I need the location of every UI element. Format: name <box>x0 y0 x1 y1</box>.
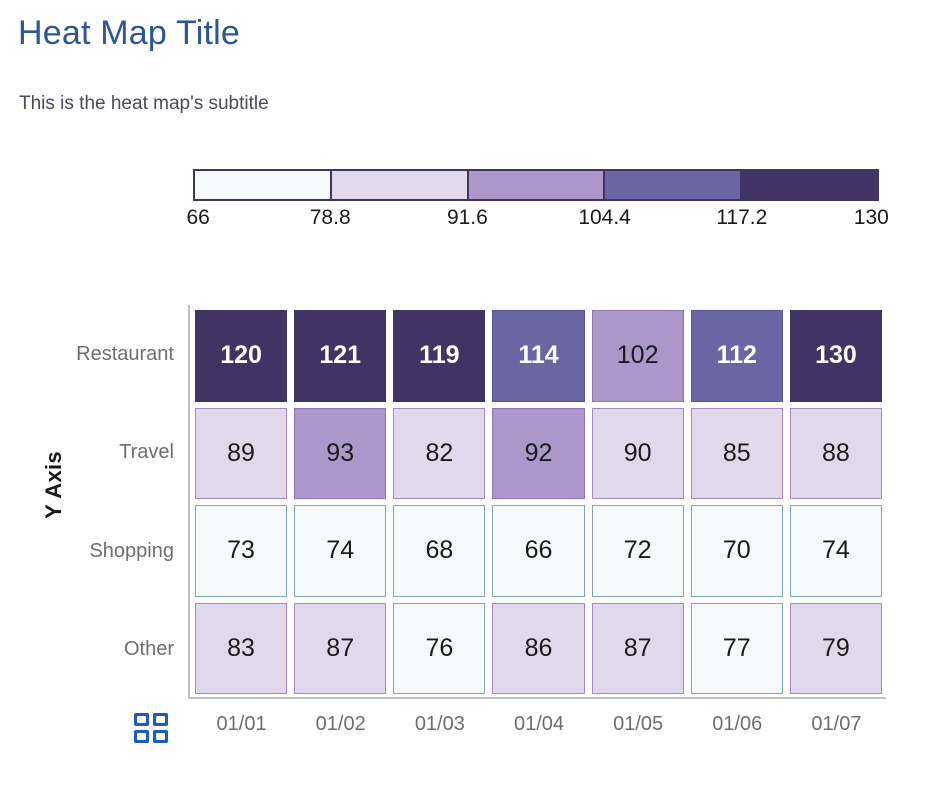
heatmap-cell[interactable]: 112 <box>691 310 783 402</box>
heatmap-grid: 1201211191141021121308993829290858873746… <box>192 307 886 697</box>
x-axis-label-01-03: 01/03 <box>390 707 489 741</box>
y-axis-label-restaurant: Restaurant <box>40 305 182 404</box>
legend-band-5 <box>740 169 879 201</box>
heatmap-cell-wrapper: 102 <box>589 307 688 405</box>
page-title: Heat Map Title <box>18 14 240 53</box>
x-axis-line <box>188 697 886 699</box>
heatmap-cell-wrapper: 73 <box>192 502 291 600</box>
heatmap-cell[interactable]: 83 <box>195 603 287 695</box>
heatmap-cell-wrapper: 90 <box>589 405 688 503</box>
heatmap-cell[interactable]: 76 <box>393 603 485 695</box>
legend-band-4 <box>603 169 742 201</box>
heatmap-cell[interactable]: 90 <box>592 408 684 500</box>
heatmap-cell[interactable]: 87 <box>294 603 386 695</box>
x-axis-label-01-06: 01/06 <box>688 707 787 741</box>
heatmap-cell-wrapper: 119 <box>390 307 489 405</box>
grid-icon-square-4 <box>153 730 168 743</box>
heatmap-cell[interactable]: 79 <box>790 603 882 695</box>
legend-band-2 <box>330 169 469 201</box>
legend-band-1 <box>193 169 332 201</box>
heatmap-cell[interactable]: 82 <box>393 408 485 500</box>
heatmap-cell[interactable]: 130 <box>790 310 882 402</box>
heatmap-cell-wrapper: 92 <box>489 405 588 503</box>
heatmap-cell-wrapper: 93 <box>291 405 390 503</box>
heatmap-cell[interactable]: 89 <box>195 408 287 500</box>
heatmap-cell[interactable]: 121 <box>294 310 386 402</box>
legend-tick-label: 104.4 <box>578 206 631 230</box>
heatmap-cell-wrapper: 82 <box>390 405 489 503</box>
heatmap-cell-wrapper: 74 <box>291 502 390 600</box>
heatmap-cell[interactable]: 72 <box>592 505 684 597</box>
heatmap-cell-wrapper: 86 <box>489 600 588 698</box>
legend-band-3 <box>467 169 606 201</box>
heatmap-cell-wrapper: 85 <box>688 405 787 503</box>
grid-icon-square-3 <box>134 730 149 743</box>
heatmap-cell[interactable]: 68 <box>393 505 485 597</box>
heatmap-cell[interactable]: 93 <box>294 408 386 500</box>
legend-tick-label: 78.8 <box>310 206 351 230</box>
y-axis-label-other: Other <box>40 601 182 700</box>
heatmap-cell-wrapper: 121 <box>291 307 390 405</box>
heatmap-cell-wrapper: 83 <box>192 600 291 698</box>
x-axis-labels: 01/0101/0201/0301/0401/0501/0601/07 <box>192 707 886 741</box>
heatmap-plot-area: 1201211191141021121308993829290858873746… <box>188 305 886 699</box>
heatmap-cell-wrapper: 89 <box>192 405 291 503</box>
heatmap-cell[interactable]: 114 <box>492 310 584 402</box>
color-legend-ticks: 6678.891.6104.4117.2130 <box>193 206 879 236</box>
y-axis-line <box>188 305 190 699</box>
y-axis-label-shopping: Shopping <box>40 502 182 601</box>
heatmap-cell-wrapper: 77 <box>688 600 787 698</box>
heatmap-cell[interactable]: 119 <box>393 310 485 402</box>
x-axis-label-01-04: 01/04 <box>489 707 588 741</box>
legend-tick-label: 91.6 <box>447 206 488 230</box>
x-axis-label-01-02: 01/02 <box>291 707 390 741</box>
heatmap-cell[interactable]: 74 <box>294 505 386 597</box>
heatmap-cell[interactable]: 120 <box>195 310 287 402</box>
heatmap-cell-wrapper: 114 <box>489 307 588 405</box>
x-axis-label-01-05: 01/05 <box>589 707 688 741</box>
heatmap-cell[interactable]: 87 <box>592 603 684 695</box>
heatmap-cell-wrapper: 88 <box>787 405 886 503</box>
y-axis-label-travel: Travel <box>40 404 182 503</box>
heatmap-cell-wrapper: 66 <box>489 502 588 600</box>
grid-icon-square-2 <box>153 713 168 726</box>
heatmap-cell-wrapper: 112 <box>688 307 787 405</box>
grid-view-icon[interactable] <box>134 713 168 743</box>
x-axis-label-01-07: 01/07 <box>787 707 886 741</box>
heatmap-cell-wrapper: 130 <box>787 307 886 405</box>
heatmap-cell[interactable]: 92 <box>492 408 584 500</box>
y-axis-labels: RestaurantTravelShoppingOther <box>40 305 182 699</box>
grid-icon-square-1 <box>134 713 149 726</box>
heatmap-cell-wrapper: 120 <box>192 307 291 405</box>
heatmap-cell-wrapper: 70 <box>688 502 787 600</box>
heatmap-cell[interactable]: 73 <box>195 505 287 597</box>
heatmap-cell-wrapper: 68 <box>390 502 489 600</box>
heatmap-cell[interactable]: 66 <box>492 505 584 597</box>
heatmap-cell[interactable]: 86 <box>492 603 584 695</box>
heatmap-cell-wrapper: 87 <box>589 600 688 698</box>
heatmap-cell-wrapper: 87 <box>291 600 390 698</box>
heatmap-cell-wrapper: 76 <box>390 600 489 698</box>
heatmap-cell-wrapper: 72 <box>589 502 688 600</box>
legend-tick-label: 66 <box>186 206 209 230</box>
page-subtitle: This is the heat map's subtitle <box>19 93 269 115</box>
color-legend-bar <box>193 169 879 201</box>
heatmap-cell-wrapper: 74 <box>787 502 886 600</box>
heatmap-cell[interactable]: 85 <box>691 408 783 500</box>
legend-tick-label: 130 <box>854 206 889 230</box>
x-axis-label-01-01: 01/01 <box>192 707 291 741</box>
heatmap-cell[interactable]: 88 <box>790 408 882 500</box>
heatmap-cell[interactable]: 102 <box>592 310 684 402</box>
heatmap-cell[interactable]: 70 <box>691 505 783 597</box>
heatmap-cell[interactable]: 74 <box>790 505 882 597</box>
heatmap-cell[interactable]: 77 <box>691 603 783 695</box>
heatmap-cell-wrapper: 79 <box>787 600 886 698</box>
legend-tick-label: 117.2 <box>716 206 767 230</box>
